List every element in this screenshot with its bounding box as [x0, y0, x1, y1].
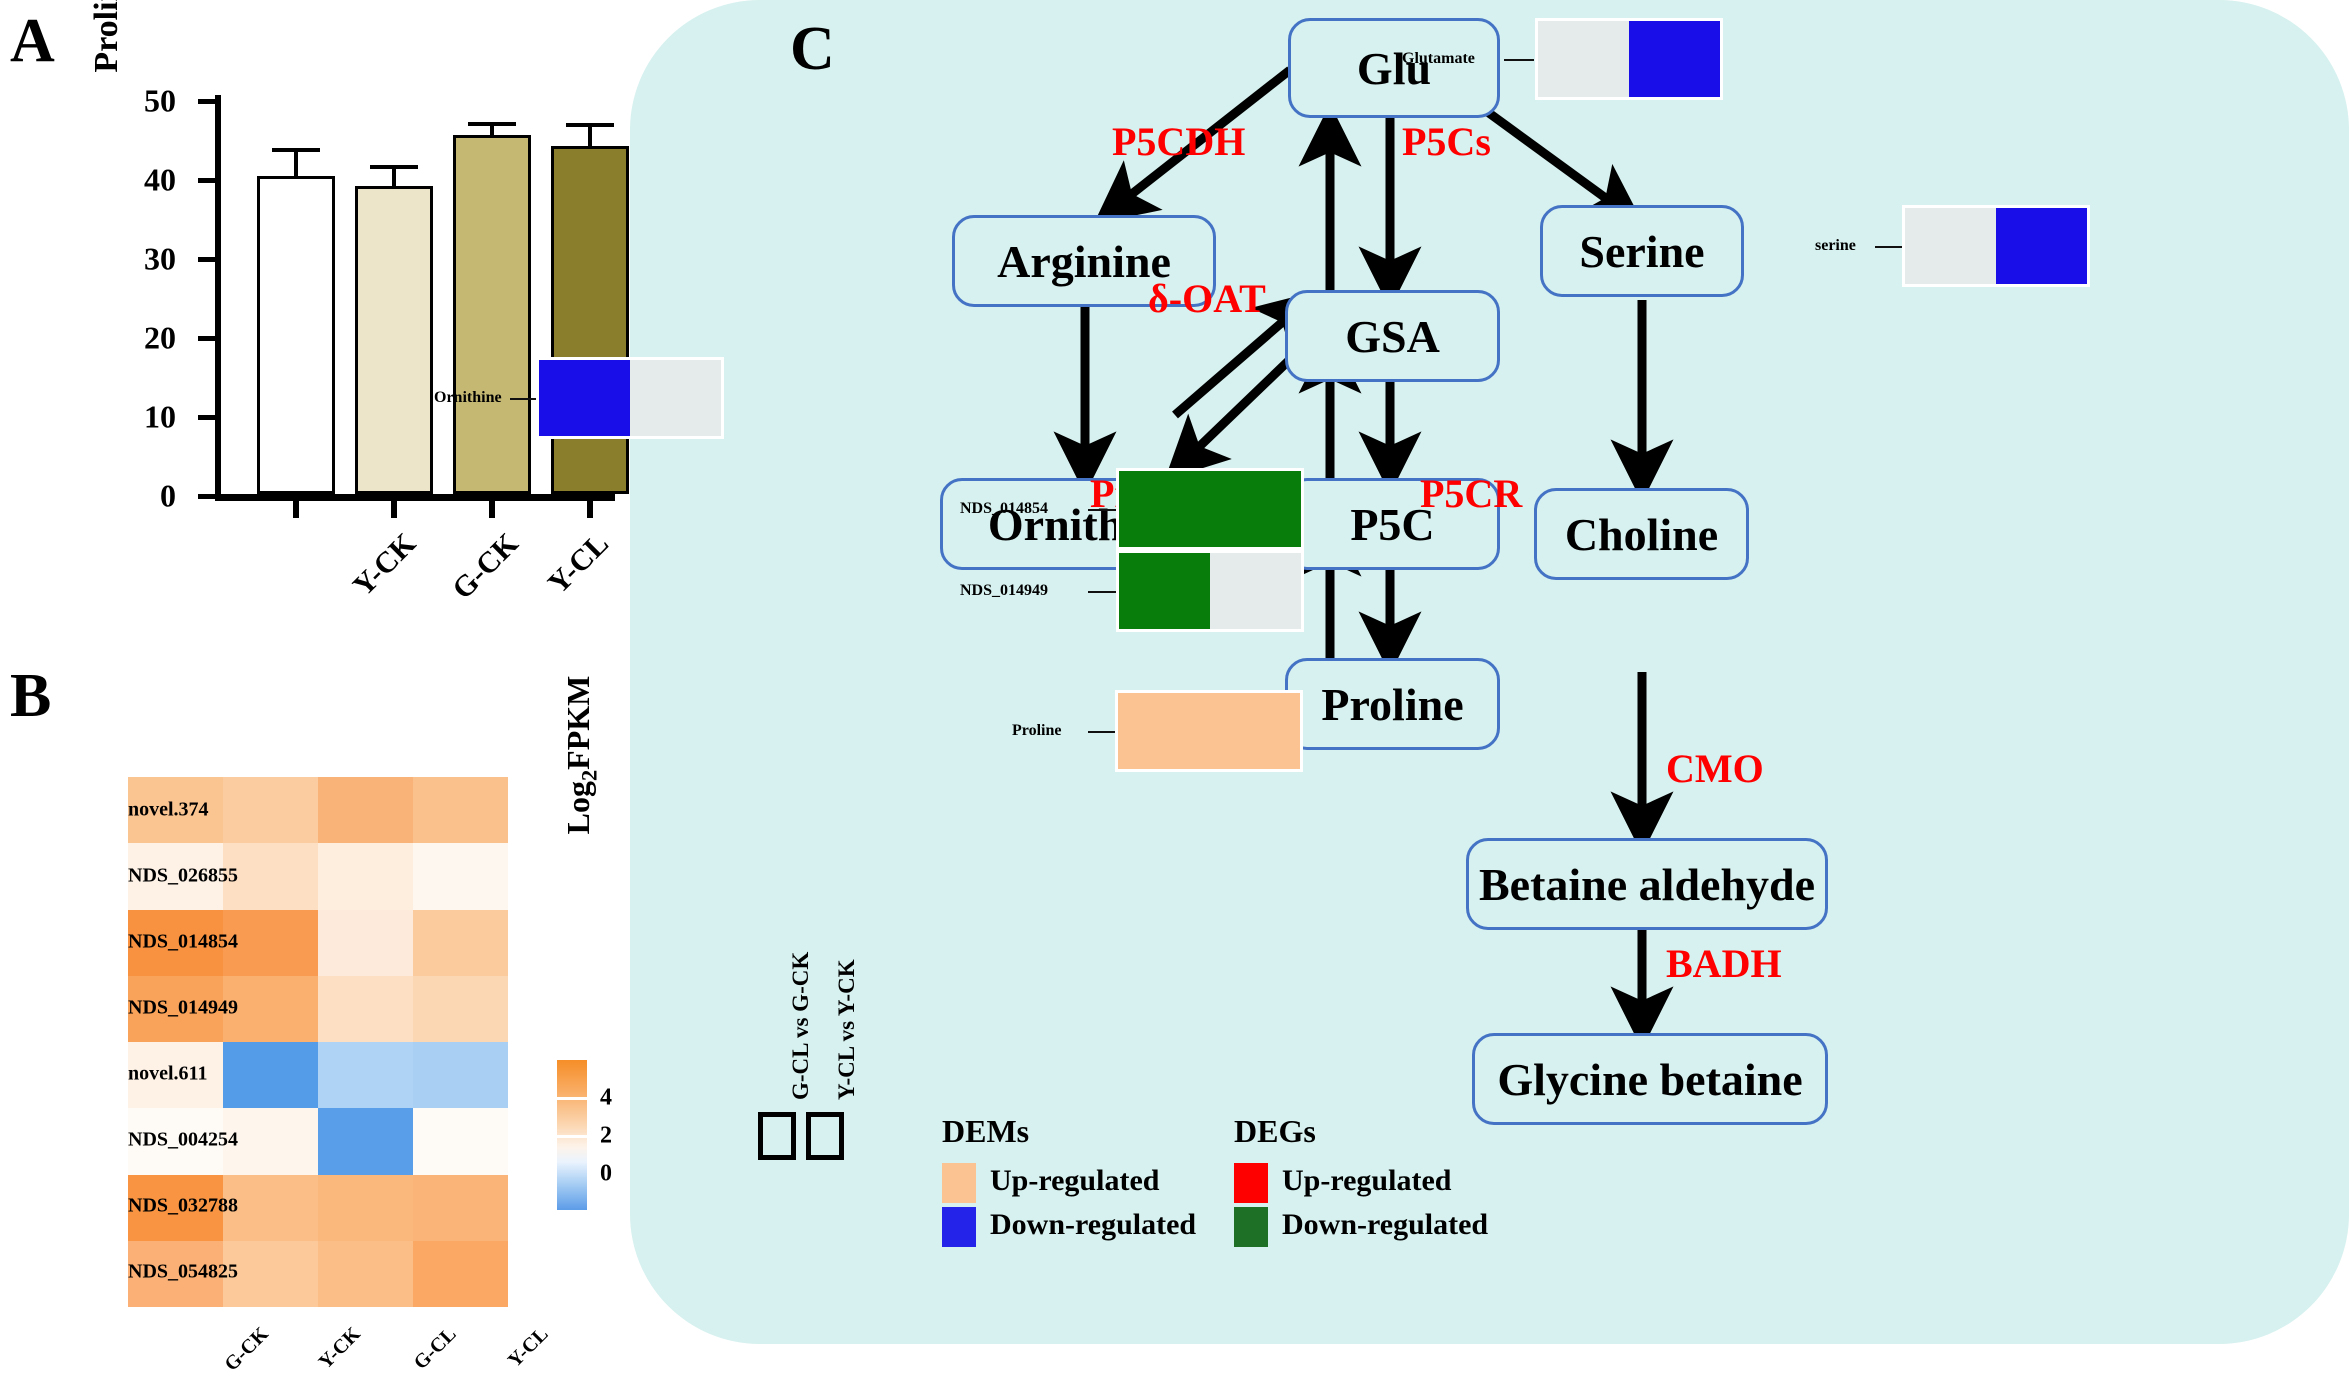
- x-axis-label-g-ck: G-CK: [446, 527, 525, 606]
- heatmap-col-label-0: G-CK: [220, 1323, 273, 1376]
- y-tick-40: 40: [198, 178, 215, 183]
- node-betaine-aldehyde[interactable]: Betaine aldehyde: [1466, 838, 1828, 930]
- heatmap-cell: [413, 976, 508, 1042]
- heatmap-cell: [413, 1175, 508, 1241]
- mini-cell-deg-11: [1210, 553, 1301, 629]
- mini-cell-deg-01: [1210, 471, 1301, 547]
- x-tick-3: [489, 501, 495, 518]
- mini-connector-glutamate: [1504, 59, 1534, 61]
- node-gsa[interactable]: GSA: [1285, 290, 1500, 382]
- mini-heatmap-deg-row-014949: [1116, 550, 1304, 632]
- node-glu[interactable]: Glu: [1288, 18, 1500, 118]
- colorbar-title: Log2FPKM: [560, 640, 596, 870]
- panel-c-pathway-diagram: C: [630, 0, 2349, 1355]
- panel-c-letter: C: [790, 18, 835, 80]
- legend-text-dem-up: Up-regulated: [990, 1164, 1159, 1198]
- heatmap-cell: [223, 777, 318, 843]
- heatmap-cell: [318, 777, 413, 843]
- heatmap-cell: [318, 1042, 413, 1108]
- mini-cell-serine-0: [1905, 208, 1996, 284]
- y-axis-line: [215, 95, 221, 500]
- enzyme-badh: BADH: [1666, 940, 1782, 987]
- mini-label-serine: serine: [1815, 237, 1856, 255]
- colorbar-label-2: 2: [600, 1123, 612, 1150]
- mini-heatmap-deg-row-014854: [1116, 468, 1304, 550]
- mini-heatmap-serine: [1902, 205, 2090, 287]
- error-cap-y-cl: [468, 122, 516, 126]
- heatmap-cell: [223, 1042, 318, 1108]
- legend-column-label-g: G-CL vs G-CK: [788, 952, 814, 1100]
- error-bar-y-ck: [294, 150, 298, 176]
- mini-cell-serine-1: [1996, 208, 2087, 284]
- panel-b-expression-heatmap: B novel.374 NDS_026855 NDS_014854 NDS_01…: [0, 655, 700, 1355]
- panel-a-y-axis-label: Proline content (μg/g): [88, 0, 128, 80]
- mini-cell-proline-0: [1118, 693, 1209, 769]
- y-tick-50: 50: [198, 99, 215, 104]
- legend-title-degs: DEGs: [1234, 1113, 1316, 1150]
- heatmap-col-label-1: Y-CK: [314, 1323, 365, 1374]
- error-bar-g-cl: [588, 125, 592, 146]
- x-tick-1: [293, 501, 299, 518]
- mini-label-ornithine: Ornithine: [434, 389, 502, 407]
- legend-swatch-dem-down: [942, 1207, 976, 1247]
- error-cap-g-cl: [566, 123, 614, 127]
- y-tick-label-20: 20: [144, 320, 176, 357]
- mini-cell-ornithine-1: [630, 360, 721, 436]
- node-choline[interactable]: Choline: [1534, 488, 1749, 580]
- mini-label-deg-014949: NDS_014949: [960, 582, 1048, 600]
- mini-cell-proline-1: [1209, 693, 1300, 769]
- enzyme-p5cr: P5CR: [1420, 470, 1522, 517]
- mini-cell-glutamate-1: [1629, 21, 1720, 97]
- mini-heatmap-proline: [1115, 690, 1303, 772]
- mini-label-glutamate: Glutamate: [1402, 50, 1475, 68]
- heatmap-cell: [413, 1042, 508, 1108]
- heatmap-cell: [413, 1108, 508, 1174]
- heatmap-grid: [128, 777, 508, 1307]
- heatmap-cell: [318, 843, 413, 909]
- mini-cell-deg-00: [1119, 471, 1210, 547]
- y-tick-30: 30: [198, 257, 215, 262]
- heatmap-col-label-3: Y-CL: [504, 1323, 554, 1373]
- legend-swatch-deg-down: [1234, 1207, 1268, 1247]
- mini-heatmap-ornithine: [536, 357, 724, 439]
- colorbar-label-4: 4: [600, 1085, 612, 1112]
- bar-g-cl: [551, 146, 629, 494]
- colorbar-dash-2: [557, 1135, 587, 1138]
- colorbar-title-text: Log2FPKM: [560, 676, 596, 835]
- enzyme-doat: δ-OAT: [1148, 275, 1266, 322]
- mini-cell-ornithine-0: [539, 360, 630, 436]
- error-bar-g-ck: [392, 167, 396, 186]
- error-cap-g-ck: [370, 165, 418, 169]
- colorbar-label-0: 0: [600, 1161, 612, 1188]
- node-glycine-betaine[interactable]: Glycine betaine: [1472, 1033, 1828, 1125]
- x-axis-label-y-ck: Y-CK: [347, 527, 423, 603]
- mini-label-deg-014854: NDS_014854: [960, 500, 1048, 518]
- legend-title-dems: DEMs: [942, 1113, 1029, 1150]
- mini-cell-deg-10: [1119, 553, 1210, 629]
- mini-cell-glutamate-0: [1538, 21, 1629, 97]
- heatmap-cell: [318, 1108, 413, 1174]
- node-proline[interactable]: Proline: [1285, 658, 1500, 750]
- heatmap-cell: [413, 910, 508, 976]
- panel-b-letter: B: [10, 665, 51, 727]
- y-tick-10: 10: [198, 415, 215, 420]
- enzyme-cmo: CMO: [1666, 745, 1764, 792]
- mini-connector-proline: [1088, 731, 1115, 733]
- y-tick-label-50: 50: [144, 83, 176, 120]
- mini-label-proline: Proline: [1012, 722, 1061, 740]
- heatmap-cell: [318, 976, 413, 1042]
- y-tick-label-0: 0: [160, 478, 176, 515]
- legend-text-dem-down: Down-regulated: [990, 1208, 1196, 1242]
- error-cap-y-ck: [272, 148, 320, 152]
- heatmap-cell: [318, 1175, 413, 1241]
- y-tick-label-40: 40: [144, 162, 176, 199]
- heatmap-cell: [318, 910, 413, 976]
- y-tick-0: 0: [198, 494, 215, 499]
- legend-empty-box-g: [758, 1112, 796, 1160]
- colorbar-dash-4: [557, 1097, 587, 1100]
- y-tick-20: 20: [198, 336, 215, 341]
- legend-swatch-dem-up: [942, 1163, 976, 1203]
- enzyme-p5cs: P5Cs: [1402, 118, 1491, 165]
- legend-empty-box-y: [806, 1112, 844, 1160]
- panel-a-proline-content: A Proline content (μg/g) 0 10 20 30 40 5…: [0, 0, 660, 650]
- mini-connector-serine: [1875, 246, 1902, 248]
- x-tick-2: [391, 501, 397, 518]
- y-tick-label-30: 30: [144, 241, 176, 278]
- bar-y-cl: [453, 135, 531, 494]
- node-serine[interactable]: Serine: [1540, 205, 1744, 297]
- heatmap-cell: [413, 1241, 508, 1307]
- heatmap-col-label-2: G-CL: [410, 1323, 462, 1375]
- bar-y-ck: [257, 176, 335, 494]
- enzyme-p5cdh: P5CDH: [1112, 118, 1245, 165]
- panel-a-letter: A: [10, 10, 55, 72]
- panel-a-plot-area: 0 10 20 30 40 50: [215, 95, 615, 500]
- legend-swatch-deg-up: [1234, 1163, 1268, 1203]
- heatmap-cell: [413, 843, 508, 909]
- mini-connector-deg-014949: [1088, 591, 1116, 593]
- x-axis-line: [215, 494, 615, 501]
- legend-text-deg-up: Up-regulated: [1282, 1164, 1451, 1198]
- heatmap-cell: [318, 1241, 413, 1307]
- mini-connector-deg-014854: [1088, 509, 1116, 511]
- legend-column-label-y: Y-CL vs Y-CK: [834, 959, 860, 1100]
- x-axis-label-y-cl: Y-CL: [542, 527, 616, 601]
- mini-heatmap-glutamate: [1535, 18, 1723, 100]
- mini-connector-ornithine: [510, 398, 536, 400]
- bar-g-ck: [355, 186, 433, 494]
- y-tick-label-10: 10: [144, 399, 176, 436]
- heatmap-cell: [413, 777, 508, 843]
- legend-text-deg-down: Down-regulated: [1282, 1208, 1488, 1242]
- x-tick-4: [587, 501, 593, 518]
